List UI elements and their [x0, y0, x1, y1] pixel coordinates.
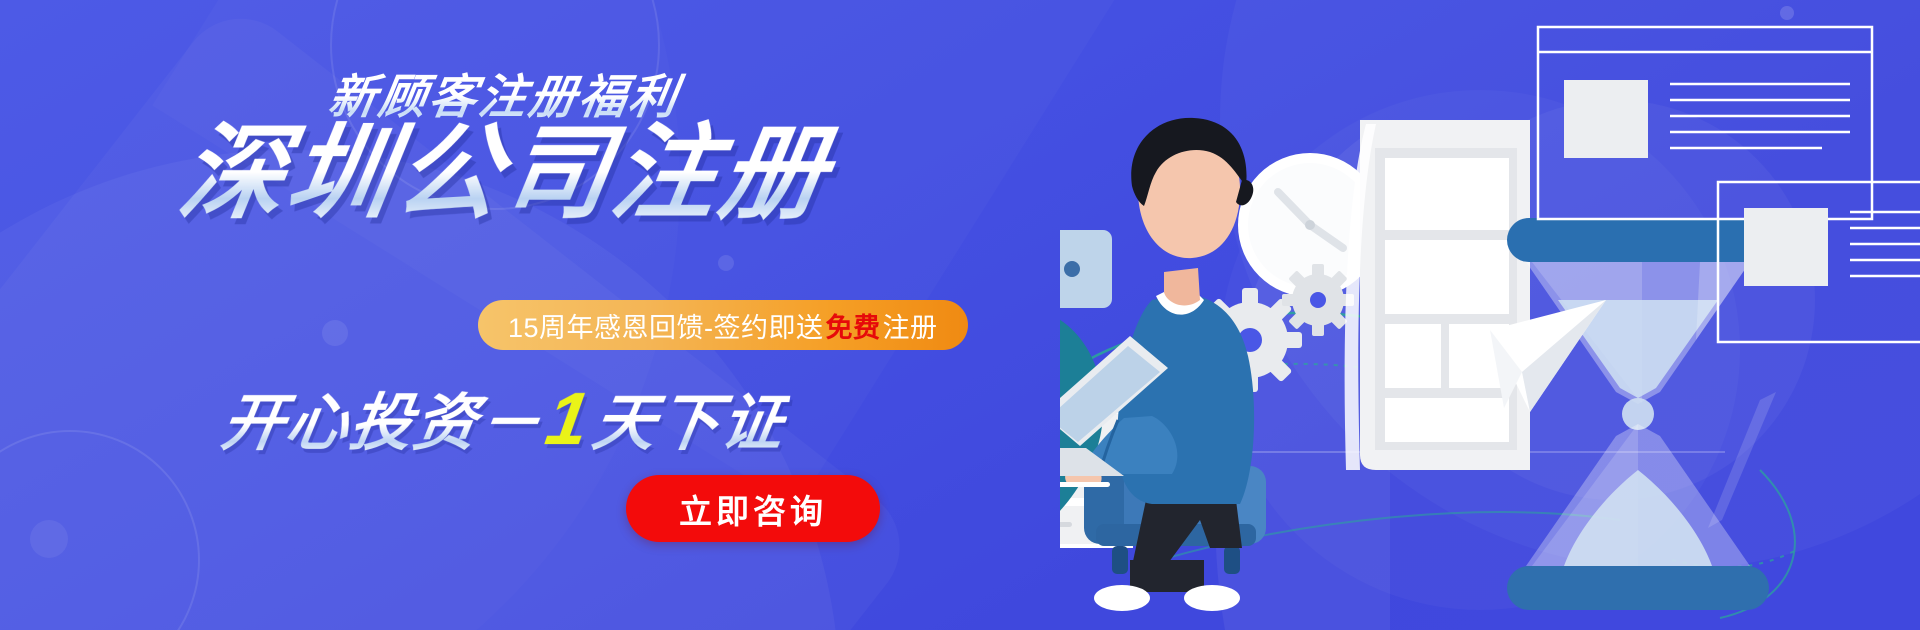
promo-badge-highlight: 免费 — [824, 306, 883, 345]
banner-tagline: 开心投资－1天下证 — [0, 372, 1017, 462]
tagline-before: 开心投资－ — [217, 389, 548, 458]
promo-badge: 15周年感恩回馈-签约即送免费注册 — [478, 300, 968, 350]
tagline-after: 天下证 — [588, 389, 791, 458]
banner-headline: 深圳公司注册 — [0, 118, 1019, 230]
window-frame — [1345, 120, 1530, 470]
promo-badge-prefix: 15周年感恩回馈-签约即送 — [508, 306, 824, 345]
banner-content: 新顾客注册福利 深圳公司注册 15周年感恩回馈-签约即送免费注册 开心投资－1天… — [0, 0, 1060, 630]
chat-bubble-icon — [1060, 230, 1112, 336]
illustration — [1060, 0, 1920, 630]
promo-banner: 新顾客注册福利 深圳公司注册 15周年感恩回馈-签约即送免费注册 开心投资－1天… — [0, 0, 1920, 630]
consult-now-button[interactable]: 立即咨询 — [626, 475, 880, 542]
promo-badge-suffix: 注册 — [883, 306, 938, 345]
